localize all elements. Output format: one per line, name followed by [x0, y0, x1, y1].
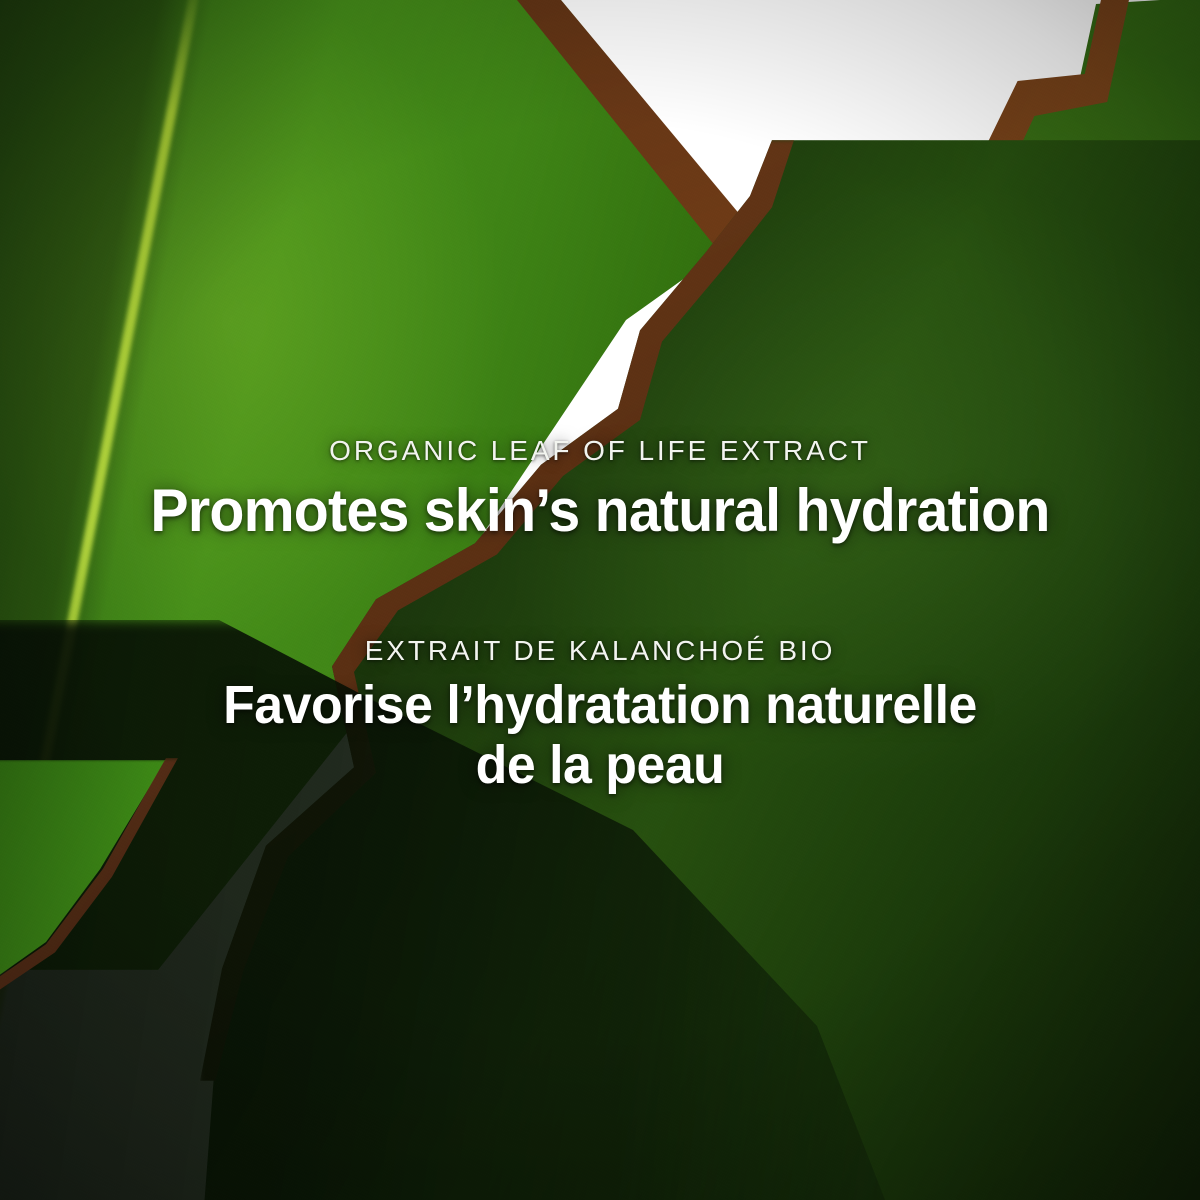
english-copy-block: ORGANIC LEAF OF LIFE EXTRACT Promotes sk…	[0, 437, 1200, 544]
french-copy-block: EXTRAIT DE KALANCHOÉ BIO Favorise l’hydr…	[0, 637, 1200, 796]
product-benefit-banner: ORGANIC LEAF OF LIFE EXTRACT Promotes sk…	[0, 0, 1200, 1200]
english-eyebrow: ORGANIC LEAF OF LIFE EXTRACT	[0, 437, 1200, 465]
french-headline-line-2: de la peau	[24, 735, 1176, 795]
french-headline-line-1: Favorise l’hydratation naturelle	[24, 675, 1176, 735]
french-eyebrow: EXTRAIT DE KALANCHOÉ BIO	[0, 637, 1200, 665]
english-headline: Promotes skin’s natural hydration	[27, 477, 1173, 544]
french-headline: Favorise l’hydratation naturelle de la p…	[24, 675, 1176, 796]
copy-overlay: ORGANIC LEAF OF LIFE EXTRACT Promotes sk…	[0, 0, 1200, 1200]
